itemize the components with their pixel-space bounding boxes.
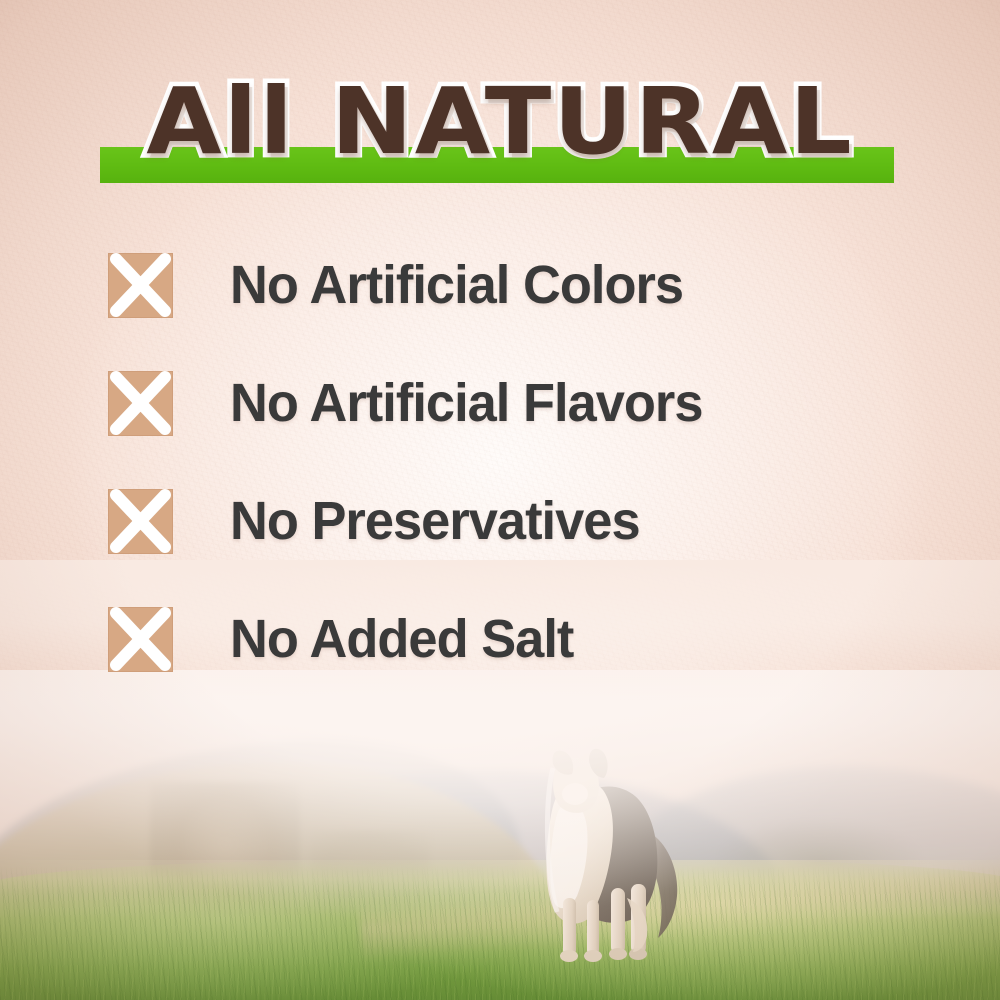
feature-label: No Added Salt xyxy=(230,611,573,667)
x-mark-icon xyxy=(108,253,173,318)
x-mark-icon xyxy=(108,607,173,672)
page-title: All NATURAL xyxy=(0,74,1000,170)
all-natural-product-poster: All NATURAL No Artificial Colors No Arti… xyxy=(0,0,1000,1000)
list-item: No Added Salt xyxy=(108,606,928,672)
x-mark-icon xyxy=(108,371,173,436)
title-banner: All NATURAL xyxy=(0,74,1000,186)
feature-label: No Artificial Flavors xyxy=(230,375,703,431)
feature-label: No Artificial Colors xyxy=(230,257,683,313)
list-item: No Preservatives xyxy=(108,488,928,554)
x-mark-icon xyxy=(108,489,173,554)
list-item: No Artificial Colors xyxy=(108,252,928,318)
feature-label: No Preservatives xyxy=(230,493,640,549)
feature-list: No Artificial Colors No Artificial Flavo… xyxy=(108,252,928,672)
list-item: No Artificial Flavors xyxy=(108,370,928,436)
